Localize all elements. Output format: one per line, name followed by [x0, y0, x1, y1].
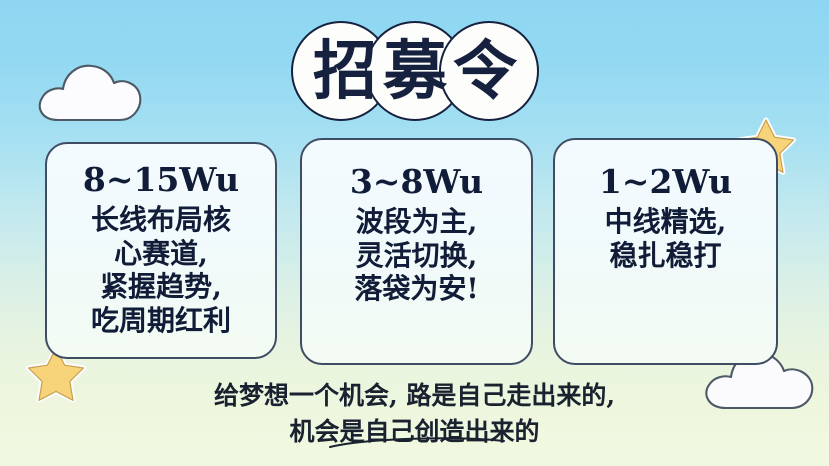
- tier-card-line: 紧握趋势,: [91, 270, 231, 304]
- tier-card: 1~2Wu 中线精选, 稳扎稳打: [553, 138, 778, 365]
- footer-caption-line: 给梦想一个机会, 路是自己走出来的,: [0, 378, 829, 414]
- tier-card-line: 心赛道,: [91, 237, 231, 271]
- tier-card-line: 稳扎稳打: [605, 239, 727, 273]
- footer-caption: 给梦想一个机会, 路是自己走出来的, 机会是自己创造出来的: [0, 378, 829, 449]
- tier-card-line: 长线布局核: [91, 203, 231, 237]
- footer-caption-line: 机会是自己创造出来的: [0, 414, 829, 450]
- tier-card-heading: 8~15Wu: [83, 162, 239, 199]
- poster-canvas: 招募令 8~15Wu 长线布局核 心赛道, 紧握趋势, 吃周期红利 3~8Wu …: [0, 0, 829, 466]
- tier-card-line: 吃周期红利: [91, 304, 231, 338]
- tier-card-line: 中线精选,: [605, 205, 727, 239]
- tier-card-body: 波段为主, 灵活切换, 落袋为安!: [354, 205, 478, 306]
- tier-card: 8~15Wu 长线布局核 心赛道, 紧握趋势, 吃周期红利: [45, 142, 277, 359]
- tier-card-line: 灵活切换,: [354, 239, 478, 273]
- cloud-icon: [34, 50, 149, 130]
- tier-card-heading: 3~8Wu: [350, 164, 483, 201]
- tier-card-line: 落袋为安!: [354, 272, 478, 306]
- tier-card-body: 中线精选, 稳扎稳打: [605, 205, 727, 272]
- tier-card: 3~8Wu 波段为主, 灵活切换, 落袋为安!: [300, 138, 533, 365]
- page-title: 招募令: [291, 21, 539, 123]
- tier-card-body: 长线布局核 心赛道, 紧握趋势, 吃周期红利: [91, 203, 231, 337]
- tier-card-line: 波段为主,: [354, 205, 478, 239]
- tier-card-heading: 1~2Wu: [599, 164, 732, 201]
- page-title-text: 招募令: [291, 21, 539, 123]
